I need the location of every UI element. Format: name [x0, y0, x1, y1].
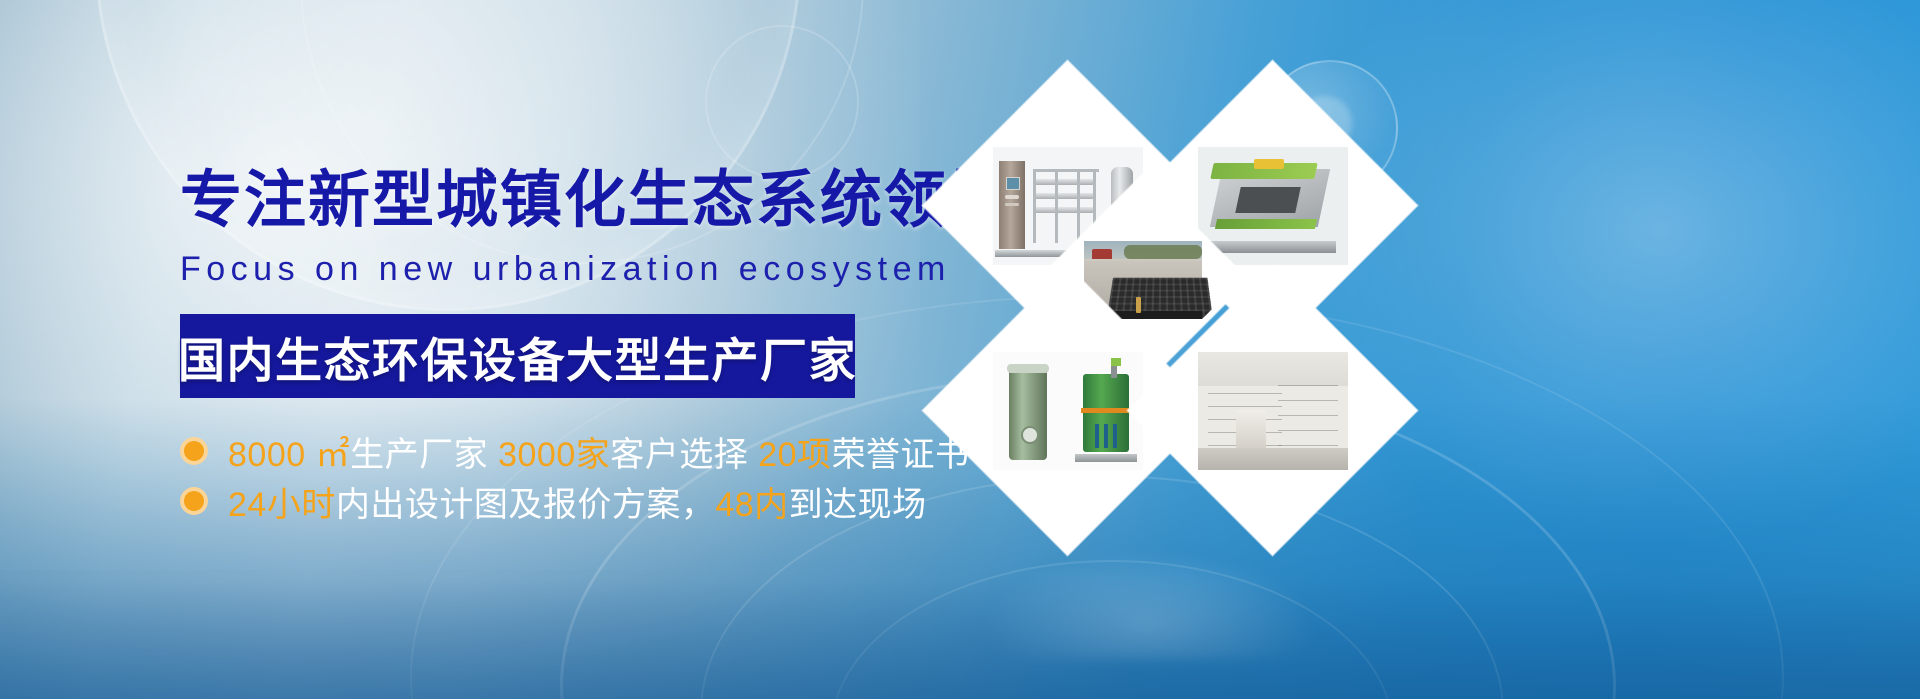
bullet-highlight: 48内: [715, 486, 788, 524]
bullet-plain: 客户选择: [610, 436, 748, 474]
bullet-plain: 内出设计图及报价方案，: [336, 486, 716, 524]
highlight-badge: 国内生态环保设备大型生产厂家: [180, 314, 855, 398]
bullet-plain: 生产厂家: [350, 436, 488, 474]
bullet-item: 8000 ㎡生产厂家3000家客户选择20项荣誉证书: [180, 426, 1020, 476]
bullet-dot-icon: [180, 487, 208, 515]
photo-green-pump-station-units: [993, 352, 1143, 470]
bullet-text: 8000 ㎡生产厂家3000家客户选择20项荣誉证书: [228, 427, 970, 476]
headline: 专注新型城镇化生态系统领域: [180, 170, 1020, 232]
bullet-highlight: 24小时: [228, 486, 336, 524]
highlight-badge-label: 国内生态环保设备大型生产厂家: [178, 322, 857, 391]
bullet-highlight: 3000家: [498, 436, 610, 474]
bullet-item: 24小时内出设计图及报价方案，48内到达现场: [180, 476, 1020, 526]
bullet-text: 24小时内出设计图及报价方案，48内到达现场: [228, 477, 927, 526]
bullet-highlight: 20项: [758, 436, 831, 474]
photo-green-processing-machine: [1198, 147, 1348, 265]
bullet-dot-icon: [180, 437, 208, 465]
product-photo-grid: [905, 38, 1525, 598]
subheadline: Focus on new urbanization ecosystem: [180, 252, 1020, 286]
promo-banner: 专注新型城镇化生态系统领域 Focus on new urbanization …: [0, 0, 1920, 699]
bullet-list: 8000 ㎡生产厂家3000家客户选择20项荣誉证书 24小时内出设计图及报价方…: [180, 426, 1020, 526]
bubble-small-top-decor: [705, 25, 859, 179]
copy-block: 专注新型城镇化生态系统领域 Focus on new urbanization …: [180, 170, 1020, 526]
bullet-highlight: 8000 ㎡: [228, 436, 350, 474]
photo-concrete-block-stack: [1198, 352, 1348, 470]
